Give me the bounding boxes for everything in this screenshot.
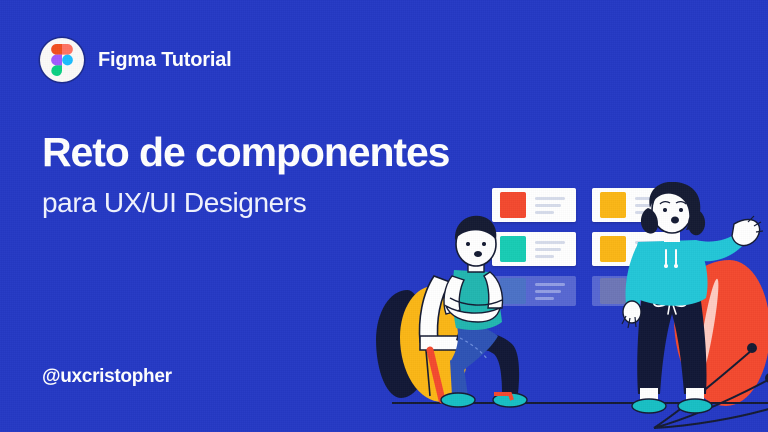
standing-woman <box>608 182 768 414</box>
brand-label: Figma Tutorial <box>98 49 232 72</box>
slide-canvas: Figma Tutorial Reto de componentes para … <box>0 0 768 432</box>
headline-block: Reto de componentes para UX/UI Designers <box>42 131 449 219</box>
page-subtitle: para UX/UI Designers <box>42 188 449 219</box>
brand-row: Figma Tutorial <box>40 38 232 82</box>
figma-logo-icon <box>40 38 84 82</box>
page-title: Reto de componentes <box>42 131 449 174</box>
author-handle: @uxcristopher <box>42 366 172 388</box>
seated-man <box>416 210 556 410</box>
